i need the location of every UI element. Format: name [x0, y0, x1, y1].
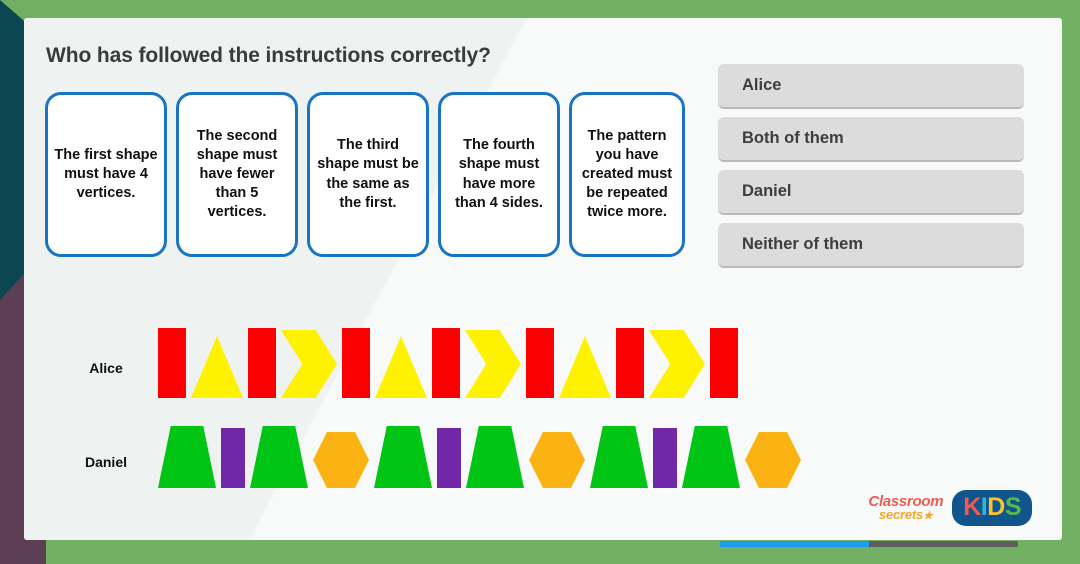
pattern-shape-trapezoid [590, 426, 648, 488]
pattern-shape-rectangle [248, 328, 276, 398]
kids-logo: KIDS [952, 490, 1032, 526]
pattern-shape-rectangle [158, 328, 186, 398]
pattern-shape-rectangle [526, 328, 554, 398]
pattern-shape-rectangle [616, 328, 644, 398]
instruction-card: The fourth shape must have more than 4 s… [438, 92, 560, 257]
pattern-shape-rectangle [710, 328, 738, 398]
logo-secrets-word: secrets [879, 507, 923, 522]
instruction-card-text: The second shape must have fewer than 5 … [185, 127, 289, 223]
pattern-shape-chevron [465, 330, 521, 398]
instruction-card-text: The fourth shape must have more than 4 s… [447, 136, 551, 213]
logo-secrets-text: secrets★ [879, 509, 933, 521]
instruction-card-list: The first shape must have 4 vertices.The… [45, 92, 685, 257]
pattern-shape-rectangle [432, 328, 460, 398]
pattern-shape-triangle [375, 336, 427, 398]
shape-sequence-daniel [158, 426, 801, 488]
pattern-shape-rectangle [221, 428, 245, 488]
pattern-shape-triangle [191, 336, 243, 398]
slide-stage: Who has followed the instructions correc… [0, 0, 1080, 564]
answer-both[interactable]: Both of them [718, 117, 1024, 162]
pattern-shape-trapezoid [158, 426, 216, 488]
star-icon: ★ [923, 510, 933, 522]
answer-alice[interactable]: Alice [718, 64, 1024, 109]
pattern-shape-rectangle [653, 428, 677, 488]
pattern-shape-rectangle [342, 328, 370, 398]
slide-panel: Who has followed the instructions correc… [24, 18, 1062, 540]
pattern-shape-trapezoid [682, 426, 740, 488]
instruction-card-text: The pattern you have created must be rep… [578, 127, 676, 223]
brand-logo: Classroom secrets★ KIDS [868, 490, 1032, 526]
pattern-row: Daniel [54, 416, 801, 488]
pattern-shape-hexagon [529, 432, 585, 488]
pattern-shape-trapezoid [374, 426, 432, 488]
pattern-shape-chevron [281, 330, 337, 398]
kids-letter-d: D [987, 493, 1005, 521]
instruction-card-text: The first shape must have 4 vertices. [54, 146, 158, 203]
kids-letter-k: K [963, 493, 981, 521]
progress-bar[interactable] [720, 541, 1018, 547]
shape-sequence-alice [158, 328, 738, 398]
pattern-shape-trapezoid [250, 426, 308, 488]
pattern-shape-rectangle [437, 428, 461, 488]
answer-neither[interactable]: Neither of them [718, 223, 1024, 268]
page-title: Who has followed the instructions correc… [46, 44, 491, 68]
pattern-row-label: Daniel [54, 454, 158, 488]
pattern-row: Alice [54, 314, 738, 398]
answer-daniel[interactable]: Daniel [718, 170, 1024, 215]
pattern-shape-triangle [559, 336, 611, 398]
instruction-card: The pattern you have created must be rep… [569, 92, 685, 257]
pattern-shape-trapezoid [466, 426, 524, 488]
instruction-card: The third shape must be the same as the … [307, 92, 429, 257]
kids-letter-s: S [1005, 493, 1021, 521]
classroom-secrets-logo: Classroom secrets★ [868, 495, 943, 521]
instruction-card: The first shape must have 4 vertices. [45, 92, 167, 257]
pattern-row-label: Alice [54, 360, 158, 398]
progress-bar-fill [720, 541, 869, 547]
instruction-card: The second shape must have fewer than 5 … [176, 92, 298, 257]
pattern-shape-hexagon [745, 432, 801, 488]
instruction-card-text: The third shape must be the same as the … [316, 136, 420, 213]
pattern-shape-chevron [649, 330, 705, 398]
pattern-shape-hexagon [313, 432, 369, 488]
answer-option-list: AliceBoth of themDanielNeither of them [718, 64, 1024, 268]
